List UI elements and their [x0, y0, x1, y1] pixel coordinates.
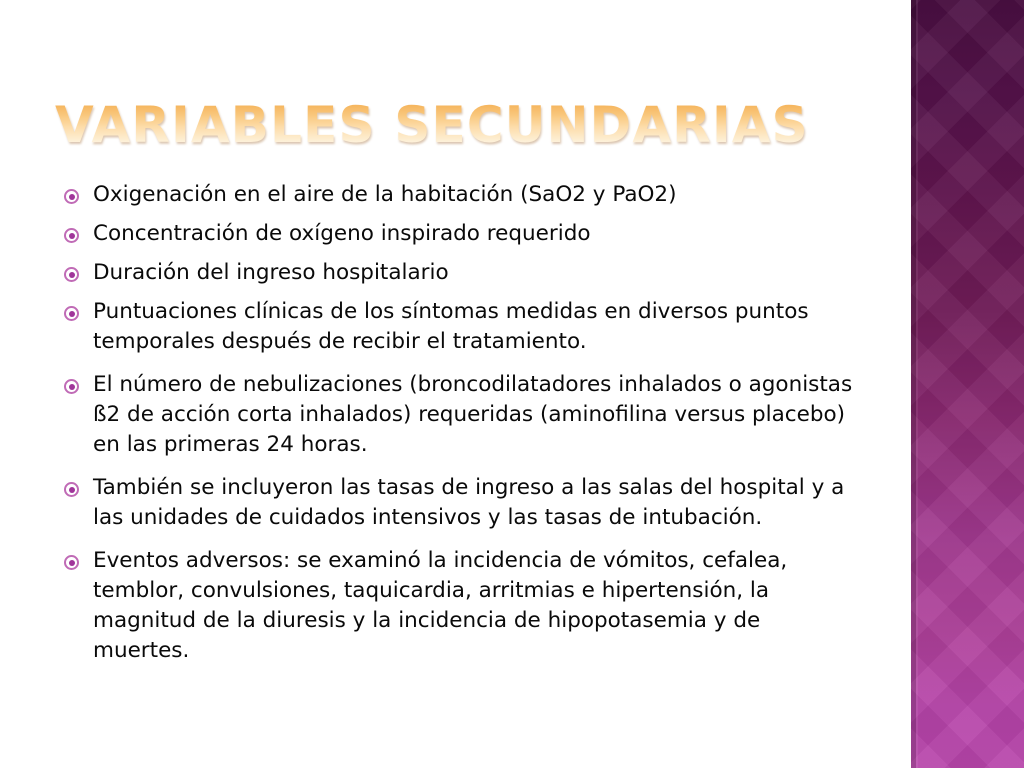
bullet-ring-icon: [64, 306, 79, 321]
page-title: Variables secundarias: [55, 95, 875, 155]
list-item-text: Oxigenación en el aire de la habitación …: [93, 180, 860, 210]
list-item: Puntuaciones clínicas de los síntomas me…: [60, 297, 860, 357]
bullet-ring-icon: [64, 555, 79, 570]
list-item-text: Eventos adversos: se examinó la incidenc…: [93, 546, 860, 666]
side-panel-diamond-pattern: [911, 0, 1024, 768]
bullet-list: Oxigenación en el aire de la habitación …: [60, 180, 860, 679]
bullet-ring-icon: [64, 267, 79, 282]
list-item-text: Duración del ingreso hospitalario: [93, 258, 860, 288]
bullet-ring-icon: [64, 379, 79, 394]
bullet-ring-icon: [64, 189, 79, 204]
list-item: Concentración de oxígeno inspirado reque…: [60, 219, 860, 249]
decorative-side-panel: [911, 0, 1024, 768]
bullet-ring-icon: [64, 228, 79, 243]
list-item: Eventos adversos: se examinó la incidenc…: [60, 546, 860, 666]
list-item-text: Concentración de oxígeno inspirado reque…: [93, 219, 860, 249]
side-panel-left-highlight: [916, 0, 918, 768]
list-item-text: El número de nebulizaciones (broncodilat…: [93, 370, 860, 460]
slide-title-container: Variables secundarias: [55, 95, 875, 165]
list-item: El número de nebulizaciones (broncodilat…: [60, 370, 860, 460]
presentation-slide: Variables secundarias Oxigenación en el …: [0, 0, 1024, 768]
list-item-text: También se incluyeron las tasas de ingre…: [93, 473, 860, 533]
list-item: También se incluyeron las tasas de ingre…: [60, 473, 860, 533]
list-item-text: Puntuaciones clínicas de los síntomas me…: [93, 297, 860, 357]
list-item: Duración del ingreso hospitalario: [60, 258, 860, 288]
list-item: Oxigenación en el aire de la habitación …: [60, 180, 860, 210]
bullet-ring-icon: [64, 482, 79, 497]
